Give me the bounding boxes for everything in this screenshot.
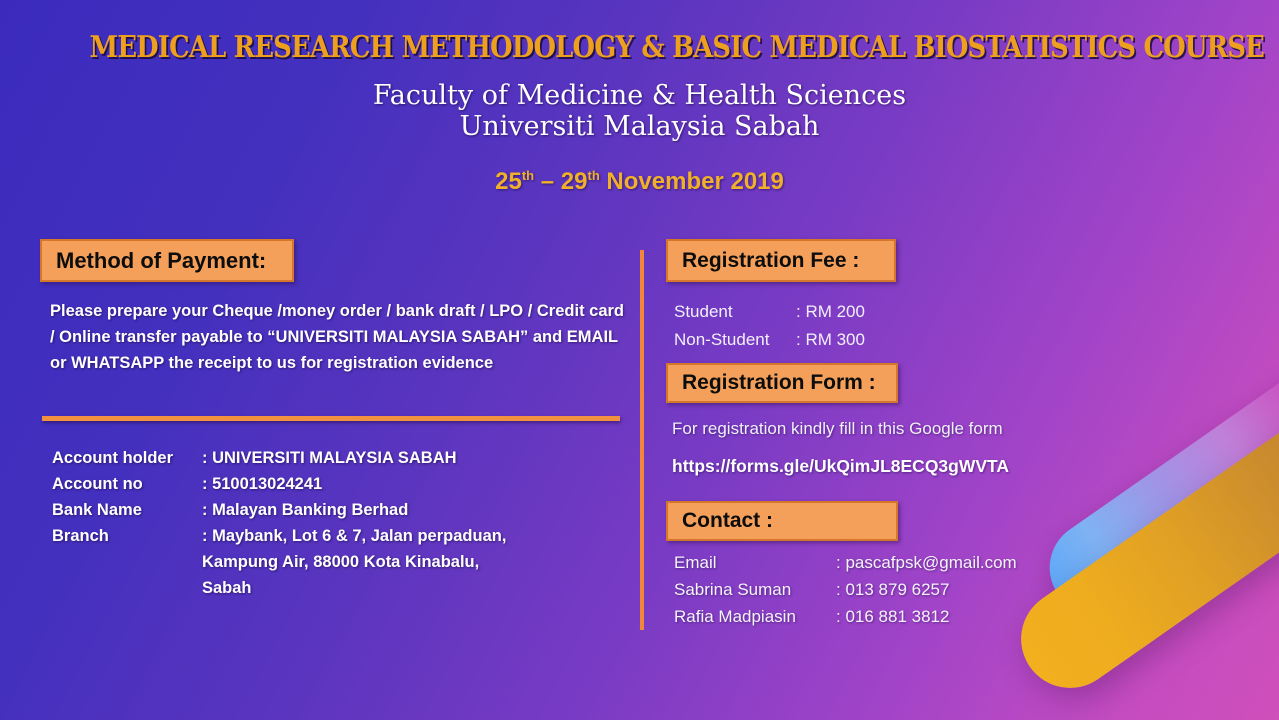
table-row: Account no : 510013024241 xyxy=(52,471,506,497)
event-date: 25th – 29th November 2019 xyxy=(0,168,1279,196)
faculty-name: Faculty of Medicine & Health Sciences xyxy=(0,80,1279,111)
contact-value: : 013 879 6257 xyxy=(836,576,1017,603)
account-value: : Malayan Banking Berhad xyxy=(200,497,506,523)
account-label xyxy=(52,549,200,575)
account-value: Kampung Air, 88000 Kota Kinabalu, xyxy=(200,549,506,575)
fee-label: Non-Student xyxy=(674,326,796,354)
contact-heading: Contact : xyxy=(666,501,898,541)
date-start-ordinal: th xyxy=(522,168,534,183)
date-separator: – xyxy=(534,168,561,195)
table-row: Student : RM 200 xyxy=(674,298,865,326)
date-month-year: November 2019 xyxy=(600,168,784,195)
decorative-gold-bar xyxy=(1002,397,1279,707)
organization-subtitle: Faculty of Medicine & Health Sciences Un… xyxy=(0,80,1279,142)
contact-label: Email xyxy=(674,549,836,576)
registration-fee-table: Student : RM 200 Non-Student : RM 300 xyxy=(674,298,865,354)
table-row: Account holder : UNIVERSITI MALAYSIA SAB… xyxy=(52,445,506,471)
method-of-payment-heading: Method of Payment: xyxy=(40,239,294,282)
table-row: Sabrina Suman : 013 879 6257 xyxy=(674,576,1017,603)
date-start-day: 25 xyxy=(495,168,522,195)
contact-value[interactable]: : pascafpsk@gmail.com xyxy=(836,549,1017,576)
contact-label: Rafia Madpiasin xyxy=(674,603,836,630)
date-end-day: 29 xyxy=(561,168,588,195)
registration-form-url[interactable]: https://forms.gle/UkQimJL8ECQ3gWVTA xyxy=(672,456,1009,477)
contact-label: Sabrina Suman xyxy=(674,576,836,603)
account-value: : 510013024241 xyxy=(200,471,506,497)
contact-table: Email : pascafpsk@gmail.com Sabrina Suma… xyxy=(674,549,1017,630)
contact-value: : 016 881 3812 xyxy=(836,603,1017,630)
account-label: Bank Name xyxy=(52,497,200,523)
table-row: Kampung Air, 88000 Kota Kinabalu, xyxy=(52,549,506,575)
account-label: Account no xyxy=(52,471,200,497)
table-row: Sabah xyxy=(52,575,506,601)
table-row: Rafia Madpiasin : 016 881 3812 xyxy=(674,603,1017,630)
registration-fee-heading: Registration Fee : xyxy=(666,239,896,282)
registration-form-note: For registration kindly fill in this Goo… xyxy=(672,419,1003,439)
university-name: Universiti Malaysia Sabah xyxy=(0,111,1279,142)
account-label: Branch xyxy=(52,523,200,549)
account-label: Account holder xyxy=(52,445,200,471)
decorative-blue-bar xyxy=(1032,338,1279,631)
date-end-ordinal: th xyxy=(587,168,599,183)
column-divider xyxy=(640,250,644,630)
table-row: Email : pascafpsk@gmail.com xyxy=(674,549,1017,576)
registration-form-heading: Registration Form : xyxy=(666,363,898,403)
fee-value: : RM 200 xyxy=(796,298,865,326)
payment-section-rule xyxy=(42,416,620,421)
table-row: Bank Name : Malayan Banking Berhad xyxy=(52,497,506,523)
account-value: : UNIVERSITI MALAYSIA SABAH xyxy=(200,445,506,471)
account-label xyxy=(52,575,200,601)
table-row: Branch : Maybank, Lot 6 & 7, Jalan perpa… xyxy=(52,523,506,549)
bank-account-table: Account holder : UNIVERSITI MALAYSIA SAB… xyxy=(52,445,506,601)
page-title: MEDICAL RESEARCH METHODOLOGY & BASIC MED… xyxy=(90,30,1190,65)
table-row: Non-Student : RM 300 xyxy=(674,326,865,354)
payment-instructions: Please prepare your Cheque /money order … xyxy=(50,298,626,376)
account-value: Sabah xyxy=(200,575,506,601)
account-value: : Maybank, Lot 6 & 7, Jalan perpaduan, xyxy=(200,523,506,549)
poster-canvas: MEDICAL RESEARCH METHODOLOGY & BASIC MED… xyxy=(0,0,1279,720)
fee-value: : RM 300 xyxy=(796,326,865,354)
fee-label: Student xyxy=(674,298,796,326)
